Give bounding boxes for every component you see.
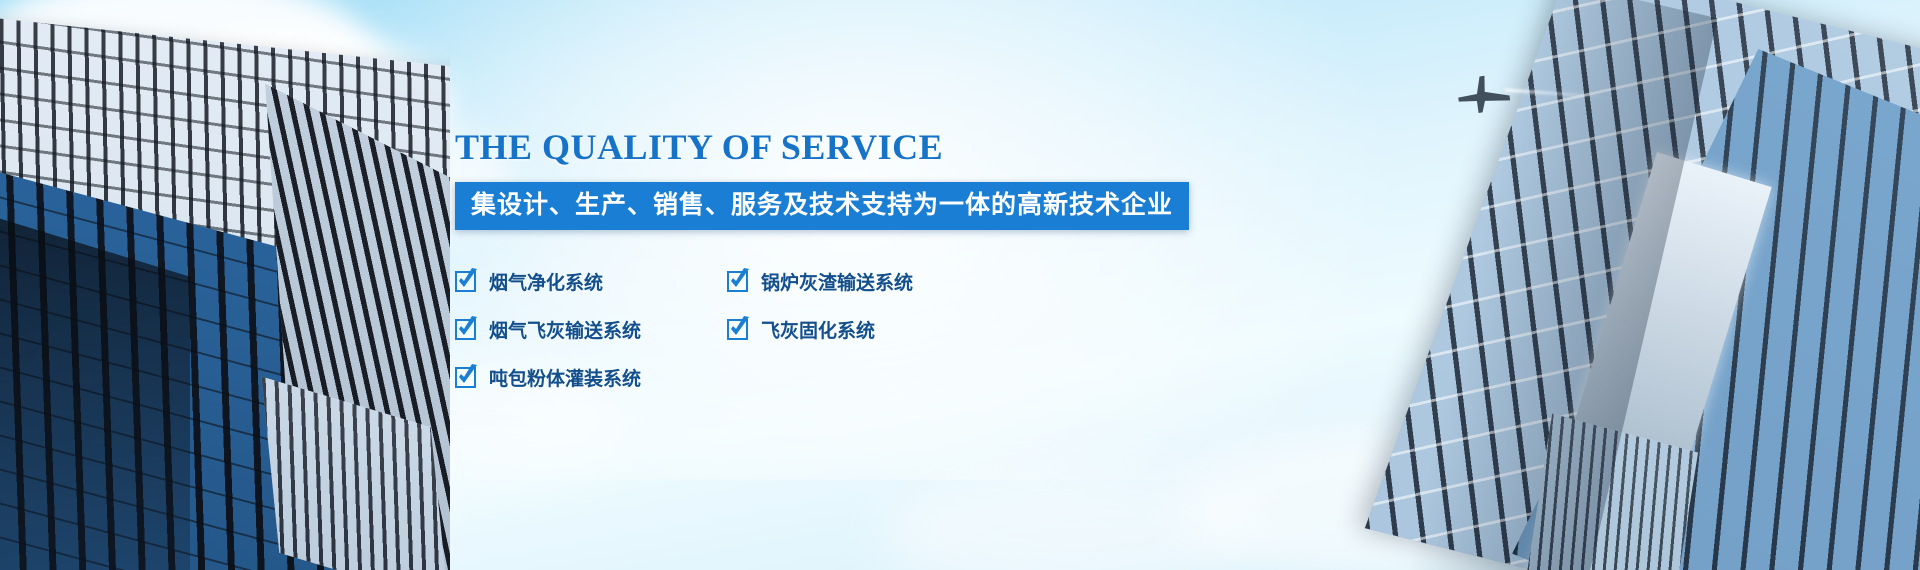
- feature-label: 烟气飞灰输送系统: [489, 316, 641, 343]
- left-building-image: [0, 0, 450, 570]
- checkbox-checked-icon: [727, 271, 748, 292]
- feature-list-spacer: [727, 364, 999, 391]
- english-title: THE QUALITY OF SERVICE: [455, 128, 1215, 168]
- feature-item[interactable]: 飞灰固化系统: [727, 316, 999, 343]
- feature-label: 烟气净化系统: [489, 268, 603, 295]
- feature-label: 飞灰固化系统: [761, 316, 875, 343]
- feature-list: 烟气净化系统 锅炉灰渣输送系统 烟气飞灰输送系统 飞灰固化系统: [455, 268, 1155, 412]
- feature-item[interactable]: 吨包粉体灌装系统: [455, 364, 727, 391]
- feature-item[interactable]: 烟气飞灰输送系统: [455, 316, 727, 343]
- feature-label: 锅炉灰渣输送系统: [761, 268, 913, 295]
- feature-item[interactable]: 锅炉灰渣输送系统: [727, 268, 999, 295]
- feature-label: 吨包粉体灌装系统: [489, 364, 641, 391]
- checkbox-checked-icon: [455, 271, 476, 292]
- checkbox-checked-icon: [455, 367, 476, 388]
- feature-item[interactable]: 烟气净化系统: [455, 268, 727, 295]
- checkbox-checked-icon: [455, 319, 476, 340]
- banner-content: THE QUALITY OF SERVICE 集设计、生产、销售、服务及技术支持…: [455, 128, 1215, 412]
- right-building-image: [1290, 0, 1920, 570]
- airplane-icon: [1449, 68, 1519, 120]
- chinese-headline-bar: 集设计、生产、销售、服务及技术支持为一体的高新技术企业: [455, 182, 1189, 231]
- checkbox-checked-icon: [727, 319, 748, 340]
- hero-banner: THE QUALITY OF SERVICE 集设计、生产、销售、服务及技术支持…: [0, 0, 1920, 570]
